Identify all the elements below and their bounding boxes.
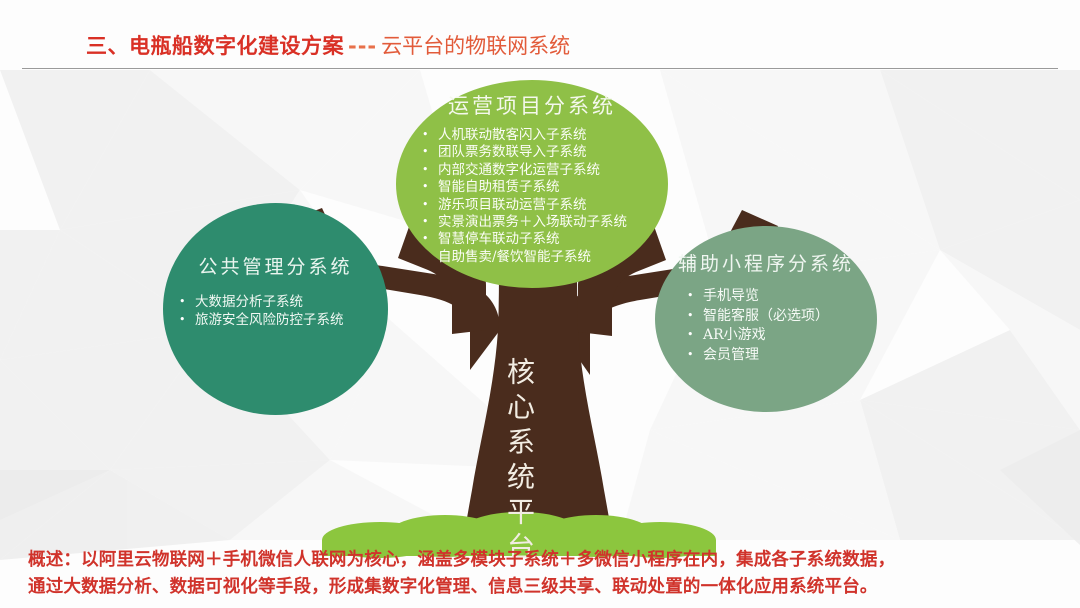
page-title: 三、电瓶船数字化建设方案---云平台的物联网系统 (86, 33, 570, 59)
slide-header: 三、电瓶船数字化建设方案---云平台的物联网系统 (0, 0, 1080, 70)
node-operations-title: 运营项目分系统 (396, 93, 668, 119)
node-public-list: 大数据分析子系统 旅游安全风险防控子系统 (195, 294, 388, 329)
list-item: 智能自助租赁子系统 (438, 179, 668, 196)
list-item: 人机联动散客闪入子系统 (438, 127, 668, 144)
node-public-management-subsystem[interactable]: 公共管理分系统 大数据分析子系统 旅游安全风险防控子系统 (163, 203, 388, 415)
node-operations-list: 人机联动散客闪入子系统 团队票务数联导入子系统 内部交通数字化运营子系统 智能自… (438, 127, 668, 266)
page-title-main: 三、电瓶船数字化建设方案 (86, 34, 344, 58)
list-item: 自助售卖/餐饮智能子系统 (438, 249, 668, 266)
title-divider-line (22, 68, 1058, 69)
summary-line-2: 通过大数据分析、数据可视化等手段，形成集数字化管理、信息三级共享、联动处置的一体… (28, 574, 1058, 601)
list-item: 实景演出票务＋入场联动子系统 (438, 214, 668, 231)
trunk-core-platform-label: 核心系统平台 (503, 357, 536, 567)
list-item: 游乐项目联动运营子系统 (438, 197, 668, 214)
list-item: 手机导览 (703, 287, 877, 307)
list-item: 大数据分析子系统 (195, 294, 388, 312)
list-item: 智能客服（必选项） (703, 307, 877, 327)
summary-text: 概述：以阿里云物联网＋手机微信人联网为核心，涵盖多模块子系统＋多微信小程序在内，… (28, 547, 1058, 601)
page-title-separator: --- (344, 34, 381, 58)
list-item: 内部交通数字化运营子系统 (438, 162, 668, 179)
summary-line-1: 概述：以阿里云物联网＋手机微信人联网为核心，涵盖多模块子系统＋多微信小程序在内，… (28, 547, 1058, 574)
list-item: 团队票务数联导入子系统 (438, 144, 668, 161)
node-miniprogram-subsystem[interactable]: 辅助小程序分系统 手机导览 智能客服（必选项） AR小游戏 会员管理 (655, 226, 877, 412)
list-item: 会员管理 (703, 346, 877, 366)
node-miniapp-list: 手机导览 智能客服（必选项） AR小游戏 会员管理 (703, 287, 877, 365)
node-public-title: 公共管理分系统 (163, 255, 388, 279)
list-item: 旅游安全风险防控子系统 (195, 312, 388, 330)
list-item: AR小游戏 (703, 326, 877, 346)
list-item: 智慧停车联动子系统 (438, 231, 668, 248)
node-miniapp-title: 辅助小程序分系统 (655, 252, 877, 276)
page-title-subtitle: 云平台的物联网系统 (381, 34, 570, 58)
node-operations-subsystem[interactable]: 运营项目分系统 人机联动散客闪入子系统 团队票务数联导入子系统 内部交通数字化运… (396, 80, 668, 288)
slide-canvas: 三、电瓶船数字化建设方案---云平台的物联网系统 (0, 0, 1080, 608)
